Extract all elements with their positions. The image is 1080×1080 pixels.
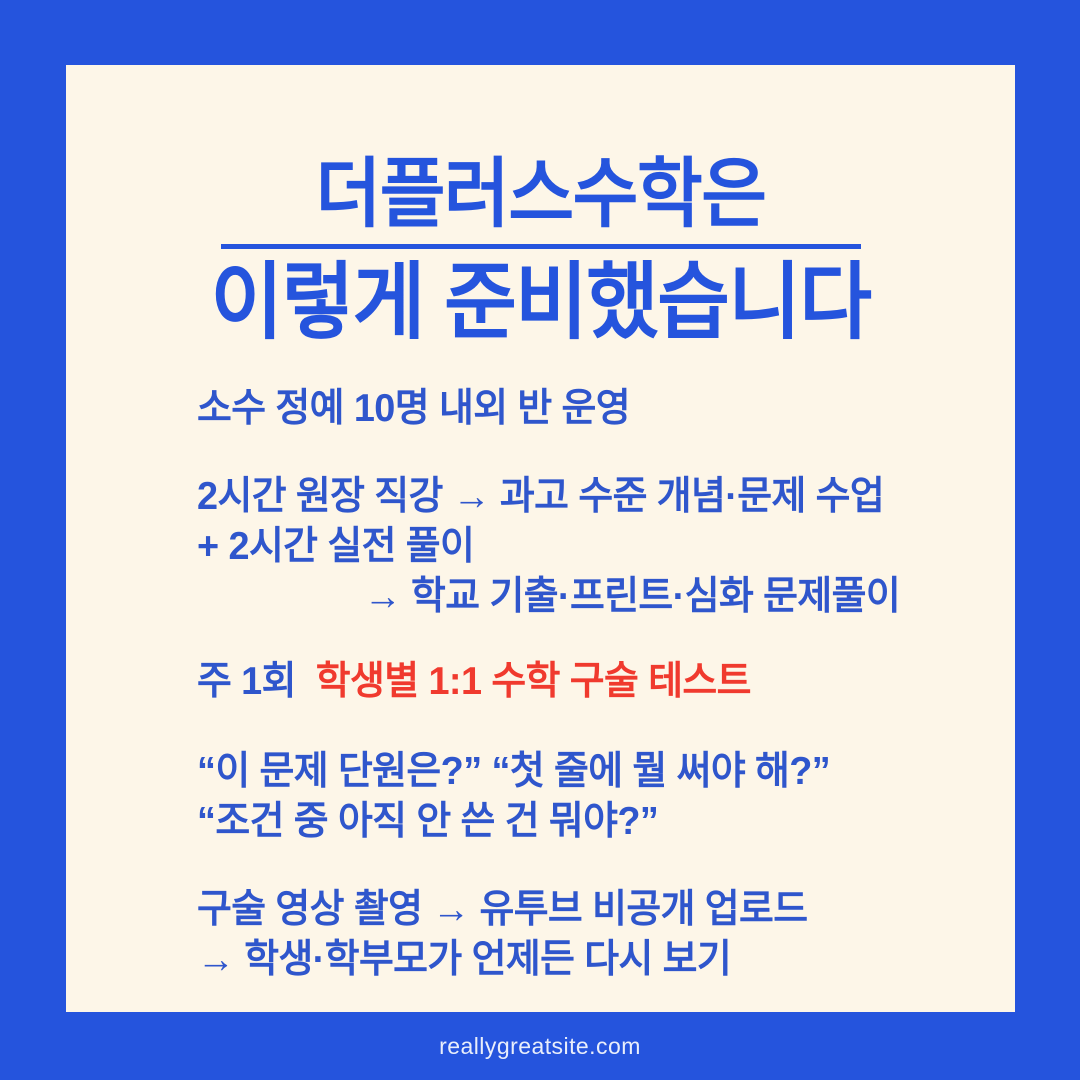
block-sample-questions: “이 문제 단원은?” “첫 줄에 뭘 써야 해?” “조건 중 아직 안 쓴 … — [197, 746, 987, 848]
quote-line-1: “이 문제 단원은?” “첫 줄에 뭘 써야 해?” — [197, 746, 963, 798]
lesson-line-1: 2시간 원장 직강 → 과고 수준 개념·문제 수업 — [197, 471, 963, 523]
video-line-2: → 학생·학부모가 언제든 다시 보기 — [197, 934, 963, 986]
lesson-line-3: → 학교 기출·프린트·심화 문제풀이 — [197, 571, 963, 623]
oral-test-emphasis: 학생별 1:1 수학 구술 테스트 — [316, 660, 751, 703]
footer-website[interactable]: reallygreatsite.com — [439, 1033, 641, 1060]
headline-line-2: 이렇게 준비했습니다 — [94, 259, 986, 346]
video-line-1: 구술 영상 촬영 → 유투브 비공개 업로드 — [197, 884, 963, 936]
footer-bar: reallygreatsite.com — [0, 1012, 1080, 1080]
block-oral-test: 주 1회 학생별 1:1 수학 구술 테스트 — [197, 656, 987, 708]
oral-test-line: 주 1회 학생별 1:1 수학 구술 테스트 — [197, 656, 963, 708]
oral-test-lead: 주 1회 — [197, 660, 296, 703]
lesson-line-2: + 2시간 실전 풀이 — [197, 521, 963, 573]
block-class-size: 소수 정예 10명 내외 반 운영 — [197, 383, 987, 435]
block-lesson-structure: 2시간 원장 직강 → 과고 수준 개념·문제 수업 + 2시간 실전 풀이 →… — [197, 471, 987, 623]
headline-line-1: 더플러스수학은 — [94, 155, 986, 238]
headline-divider — [221, 244, 861, 249]
class-size-line: 소수 정예 10명 내외 반 운영 — [197, 383, 963, 435]
headline-group: 더플러스수학은 이렇게 준비했습니다 — [66, 155, 1015, 346]
block-video-upload: 구술 영상 촬영 → 유투브 비공개 업로드 → 학생·학부모가 언제든 다시 … — [197, 884, 987, 986]
quote-line-2: “조건 중 아직 안 쓴 건 뭐야?” — [197, 796, 963, 848]
content-card: 더플러스수학은 이렇게 준비했습니다 소수 정예 10명 내외 반 운영 2시간… — [66, 65, 1015, 1012]
body-content: 소수 정예 10명 내외 반 운영 2시간 원장 직강 → 과고 수준 개념·문… — [197, 383, 987, 986]
poster-canvas: 더플러스수학은 이렇게 준비했습니다 소수 정예 10명 내외 반 운영 2시간… — [0, 0, 1080, 1080]
